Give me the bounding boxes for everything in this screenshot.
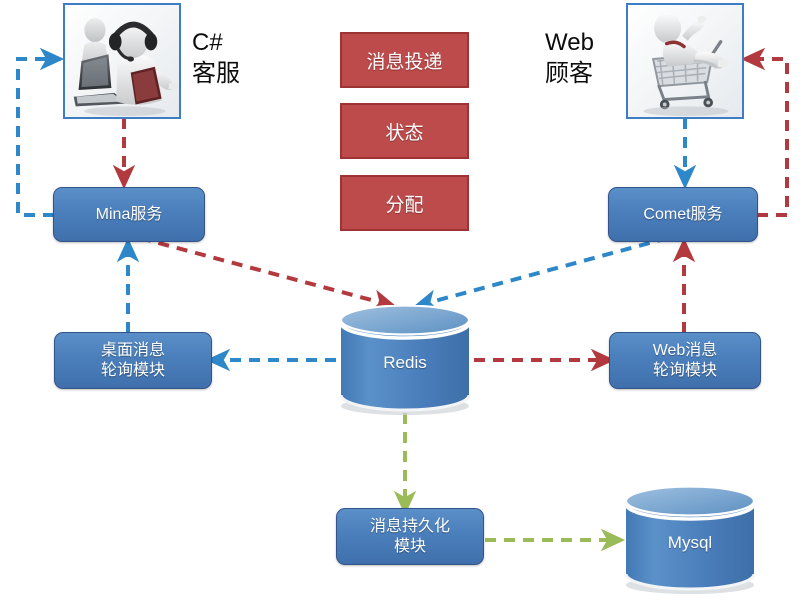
- customer-clipart: [628, 5, 742, 117]
- edge-comet-to-redis: [420, 238, 668, 305]
- web-customer-label: Web 顾客: [545, 28, 625, 89]
- csharp-agent-picture: [63, 3, 181, 119]
- red-box-allocation-label: 分配: [385, 190, 423, 217]
- csharp-agent-label: C# 客服: [192, 28, 297, 89]
- node-desktop-poll-module-label: 桌面消息 轮询模块: [101, 341, 165, 381]
- agent-clipart: [65, 5, 179, 117]
- node-comet-service-label: Comet服务: [643, 205, 722, 225]
- red-box-allocation: 分配: [340, 175, 469, 231]
- node-mina-service-label: Mina服务: [96, 205, 163, 225]
- red-box-status-label: 状态: [385, 118, 423, 145]
- node-persistence-module-label: 消息持久化 模块: [370, 517, 450, 557]
- node-mina-service: Mina服务: [53, 187, 205, 242]
- edge-mina-to-agent: [18, 59, 57, 215]
- node-redis-label: Redis: [333, 353, 477, 373]
- node-comet-service: Comet服务: [608, 187, 758, 242]
- architecture-diagram: C# 客服: [0, 0, 805, 604]
- red-box-message-delivery: 消息投递: [340, 32, 469, 88]
- node-redis: Redis: [333, 305, 477, 417]
- edge-mina-to-redis: [140, 238, 390, 305]
- node-persistence-module: 消息持久化 模块: [336, 508, 484, 565]
- node-desktop-poll-module: 桌面消息 轮询模块: [54, 332, 212, 389]
- node-mysql-label: Mysql: [618, 533, 762, 553]
- node-web-poll-module: Web消息 轮询模块: [609, 332, 761, 389]
- red-box-message-delivery-label: 消息投递: [366, 47, 442, 74]
- red-box-status: 状态: [340, 103, 469, 159]
- web-customer-picture: [626, 3, 744, 119]
- node-mysql: Mysql: [618, 486, 762, 596]
- node-web-poll-module-label: Web消息 轮询模块: [653, 341, 718, 381]
